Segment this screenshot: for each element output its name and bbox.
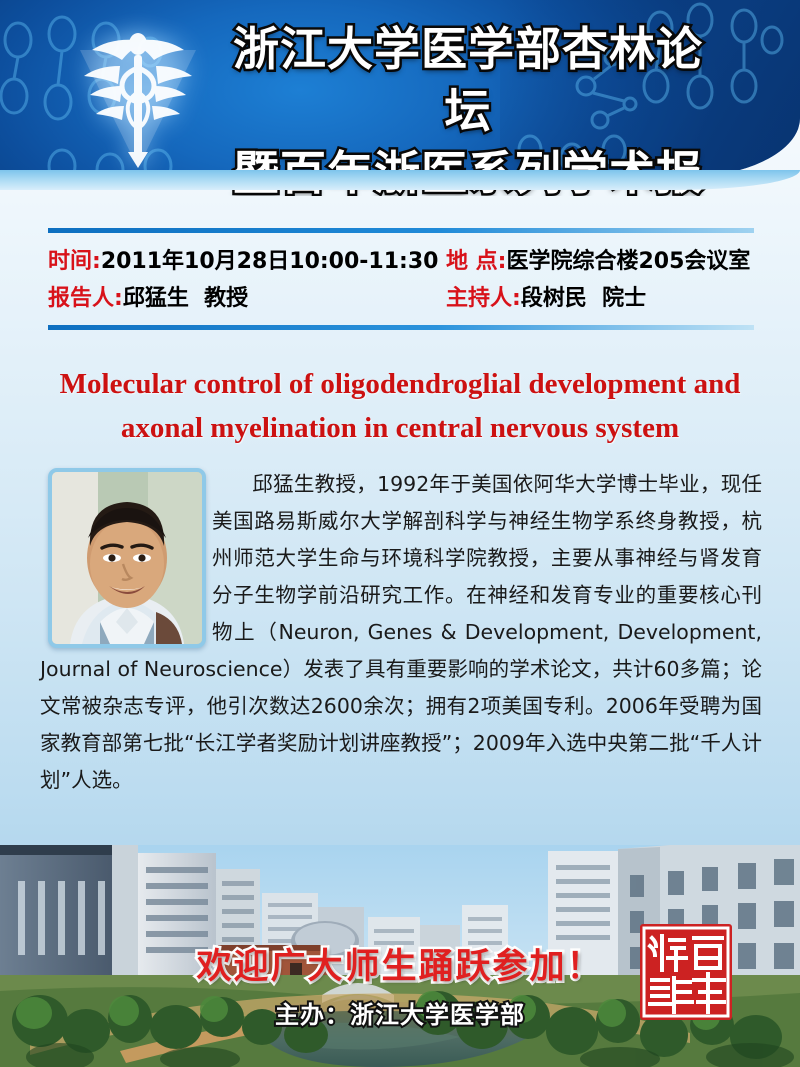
speaker-label: 报告人: — [48, 280, 123, 312]
info-cell-speaker: 报告人: 邱猛生 教授 — [48, 280, 446, 312]
talk-title-english: Molecular control of oligodendroglial de… — [40, 362, 760, 450]
talk-title-line1: Molecular control of oligodendroglial de… — [40, 362, 760, 406]
speaker-value: 邱猛生 教授 — [123, 280, 248, 312]
poster-header: 浙江大学医学部杏林论坛 暨百年浙医系列学术报告 — [0, 0, 800, 196]
speaker-bio: 邱猛生教授，1992年于美国依阿华大学博士毕业，现任美国路易斯威尔大学解剖科学与… — [40, 466, 762, 799]
info-bottom-rule — [48, 325, 754, 330]
talk-title-line2: axonal myelination in central nervous sy… — [40, 406, 760, 450]
time-label: 时间: — [48, 243, 101, 275]
place-value: 医学院综合楼205会议室 — [506, 243, 750, 275]
host-label: 主持人: — [446, 280, 521, 312]
event-info-block: 时间: 2011年10月28日10:00-11:30 地 点: 医学院综合楼20… — [48, 228, 754, 330]
header-title-line1: 浙江大学医学部杏林论坛 — [218, 18, 718, 142]
info-cell-host: 主持人: 段树民 院士 — [446, 280, 754, 312]
header-light-band — [0, 170, 800, 190]
poster-root: 浙江大学医学部杏林论坛 暨百年浙医系列学术报告 时间: 2011年10月28日1… — [0, 0, 800, 1067]
bio-photo-wrap-shape — [40, 466, 212, 646]
caduceus-icon — [58, 22, 218, 172]
anniversary-seal — [638, 922, 734, 1022]
host-value: 段树民 院士 — [521, 280, 646, 312]
place-label: 地 点: — [446, 243, 506, 275]
info-cell-time: 时间: 2011年10月28日10:00-11:30 — [48, 243, 446, 275]
red-seal-icon — [638, 922, 734, 1022]
info-row-speaker-host: 报告人: 邱猛生 教授 主持人: 段树民 院士 — [48, 280, 754, 312]
info-rows: 时间: 2011年10月28日10:00-11:30 地 点: 医学院综合楼20… — [48, 233, 754, 325]
info-row-time-place: 时间: 2011年10月28日10:00-11:30 地 点: 医学院综合楼20… — [48, 243, 754, 275]
info-cell-place: 地 点: 医学院综合楼205会议室 — [446, 243, 754, 275]
time-value: 2011年10月28日10:00-11:30 — [101, 243, 439, 275]
